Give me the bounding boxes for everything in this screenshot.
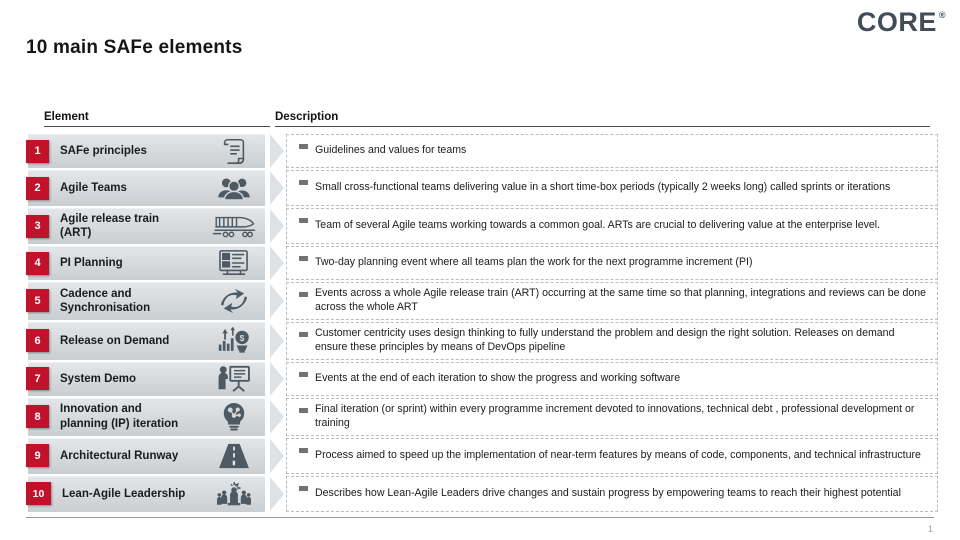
scroll-document-icon: [210, 136, 258, 166]
table-row[interactable]: 2 Agile Teams Small cross-functional tea…: [0, 170, 960, 206]
description-cell[interactable]: Team of several Agile teams working towa…: [286, 208, 938, 244]
chevron-right-icon: [270, 282, 286, 320]
element-cell[interactable]: 8 Innovation and planning (IP) iteration: [0, 398, 270, 436]
row-number-badge: 5: [26, 289, 49, 312]
description-text: Describes how Lean-Agile Leaders drive c…: [315, 487, 901, 501]
train-icon: [210, 213, 258, 239]
table-row[interactable]: 6 Release on Demand $ Customer centricit…: [0, 322, 960, 360]
chevron-right-icon: [270, 208, 286, 244]
element-label: System Demo: [60, 372, 210, 386]
description-cell[interactable]: Guidelines and values for teams: [286, 134, 938, 168]
page-title: 10 main SAFe elements: [26, 37, 242, 59]
bullet-icon: [299, 372, 308, 377]
element-cell[interactable]: 6 Release on Demand $: [0, 322, 270, 360]
footer-divider: [26, 517, 934, 518]
row-number-badge: 10: [26, 482, 51, 505]
chevron-right-icon: [270, 134, 286, 168]
description-cell[interactable]: Small cross-functional teams delivering …: [286, 170, 938, 206]
growth-money-icon: $: [210, 327, 258, 355]
column-header-element: Element: [44, 111, 270, 127]
description-cell[interactable]: Events at the end of each iteration to s…: [286, 362, 938, 396]
bullet-icon: [299, 292, 308, 297]
element-label: Architectural Runway: [60, 449, 210, 463]
element-label: Agile Teams: [60, 181, 210, 195]
table-row[interactable]: 10 Lean-Agile Leadership Describes how L…: [0, 476, 960, 512]
description-cell[interactable]: Final iteration (or sprint) within every…: [286, 398, 938, 436]
description-cell[interactable]: Describes how Lean-Agile Leaders drive c…: [286, 476, 938, 512]
row-number-badge: 6: [26, 329, 49, 352]
chevron-right-icon: [270, 476, 286, 512]
row-number-badge: 7: [26, 367, 49, 390]
chevron-right-icon: [270, 398, 286, 436]
description-cell[interactable]: Process aimed to speed up the implementa…: [286, 438, 938, 474]
row-number-badge: 9: [26, 444, 49, 467]
chevron-right-icon: [270, 322, 286, 360]
element-label: Agile release train (ART): [60, 212, 210, 241]
row-number-badge: 1: [26, 140, 49, 163]
row-number-badge: 4: [26, 252, 49, 275]
element-cell[interactable]: 5 Cadence and Synchronisation: [0, 282, 270, 320]
row-number-badge: 3: [26, 215, 49, 238]
runway-road-icon: [210, 442, 258, 470]
presenter-screen-icon: [210, 365, 258, 393]
logo-text: CORE: [857, 9, 937, 36]
element-label: PI Planning: [60, 256, 210, 270]
bullet-icon: [299, 256, 308, 261]
chevron-right-icon: [270, 362, 286, 396]
bullet-icon: [299, 180, 308, 185]
slide: CORE ® 10 main SAFe elements Element Des…: [0, 0, 960, 540]
bullet-icon: [299, 486, 308, 491]
chevron-right-icon: [270, 246, 286, 280]
description-cell[interactable]: Two-day planning event where all teams p…: [286, 246, 938, 280]
element-cell[interactable]: 1 SAFe principles: [0, 134, 270, 168]
planning-board-icon: [210, 249, 258, 277]
table-row[interactable]: 8 Innovation and planning (IP) iteration…: [0, 398, 960, 436]
description-text: Customer centricity uses design thinking…: [315, 327, 929, 355]
svg-text:$: $: [240, 333, 245, 343]
description-cell[interactable]: Events across a whole Agile release trai…: [286, 282, 938, 320]
row-number-badge: 2: [26, 177, 49, 200]
element-cell[interactable]: 3 Agile release train (ART): [0, 208, 270, 244]
bullet-icon: [299, 218, 308, 223]
element-label: Cadence and Synchronisation: [60, 287, 210, 316]
page-number: 1: [928, 524, 933, 534]
table-row[interactable]: 1 SAFe principles Guidelines and values …: [0, 134, 960, 168]
element-cell[interactable]: 10 Lean-Agile Leadership: [0, 476, 270, 512]
description-text: Events across a whole Agile release trai…: [315, 287, 929, 315]
registered-mark: ®: [939, 11, 946, 20]
core-logo: CORE ®: [857, 9, 946, 36]
description-text: Two-day planning event where all teams p…: [315, 256, 753, 270]
element-cell[interactable]: 2 Agile Teams: [0, 170, 270, 206]
leadership-people-icon: [210, 480, 258, 508]
elements-table: 1 SAFe principles Guidelines and values …: [0, 134, 960, 514]
element-cell[interactable]: 9 Architectural Runway: [0, 438, 270, 474]
table-row[interactable]: 7 System Demo Events at the end of each …: [0, 362, 960, 396]
element-label: SAFe principles: [60, 144, 210, 158]
people-group-icon: [210, 175, 258, 201]
table-row[interactable]: 9 Architectural Runway Process aimed to …: [0, 438, 960, 474]
description-text: Process aimed to speed up the implementa…: [315, 449, 921, 463]
bullet-icon: [299, 144, 308, 149]
element-cell[interactable]: 4 PI Planning: [0, 246, 270, 280]
table-row[interactable]: 4 PI Planning Two-day planning event whe…: [0, 246, 960, 280]
description-text: Final iteration (or sprint) within every…: [315, 403, 929, 431]
bullet-icon: [299, 332, 308, 337]
row-number-badge: 8: [26, 405, 49, 428]
table-row[interactable]: 3 Agile release train (ART) Team of seve…: [0, 208, 960, 244]
table-row[interactable]: 5 Cadence and Synchronisation Events acr…: [0, 282, 960, 320]
description-text: Team of several Agile teams working towa…: [315, 219, 880, 233]
description-text: Small cross-functional teams delivering …: [315, 181, 890, 195]
element-label: Innovation and planning (IP) iteration: [60, 402, 210, 431]
chevron-right-icon: [270, 170, 286, 206]
element-label: Lean-Agile Leadership: [62, 487, 210, 501]
element-label: Release on Demand: [60, 334, 210, 348]
bullet-icon: [299, 448, 308, 453]
bullet-icon: [299, 408, 308, 413]
column-header-description: Description: [275, 111, 930, 127]
description-cell[interactable]: Customer centricity uses design thinking…: [286, 322, 938, 360]
two-arrows-cycle-icon: [210, 287, 258, 315]
chevron-right-icon: [270, 438, 286, 474]
lightbulb-gears-icon: [210, 402, 258, 432]
element-cell[interactable]: 7 System Demo: [0, 362, 270, 396]
description-text: Guidelines and values for teams: [315, 144, 466, 158]
description-text: Events at the end of each iteration to s…: [315, 372, 680, 386]
